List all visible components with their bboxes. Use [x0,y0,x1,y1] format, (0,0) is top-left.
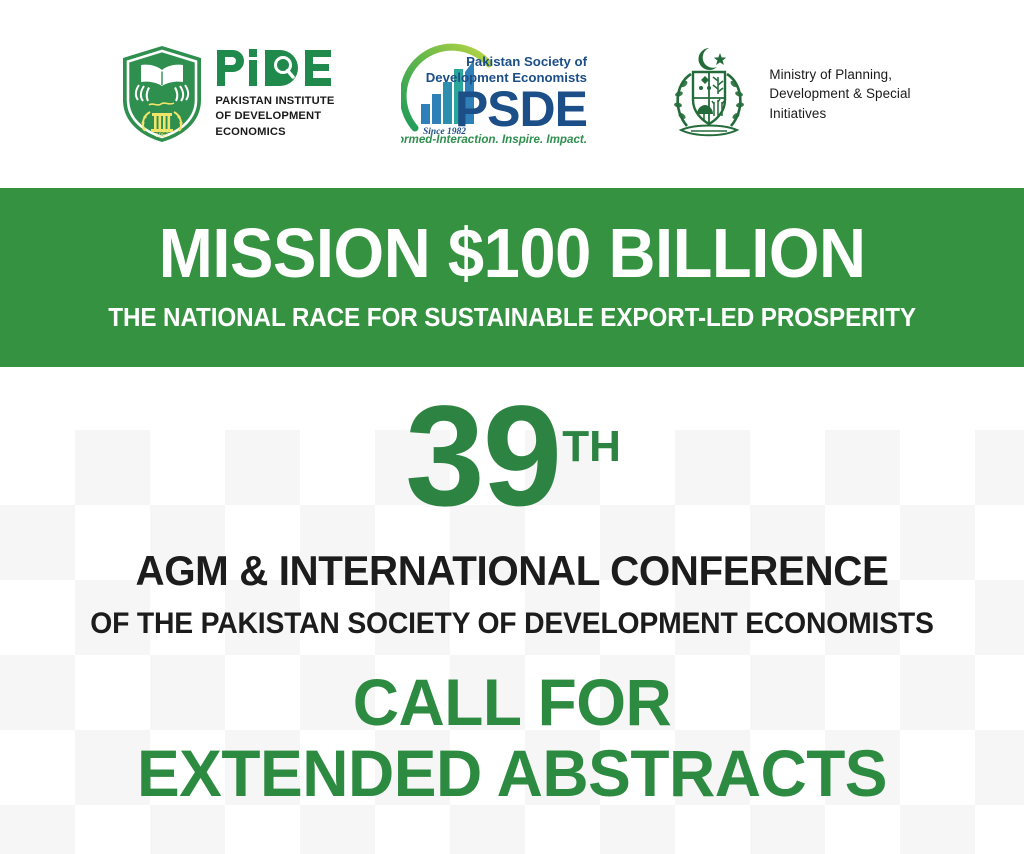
mission-banner: MISSION $100 BILLION THE NATIONAL RACE F… [0,188,1024,367]
call-for-abstracts-line-2: EXTENDED ABSTRACTS [15,740,1008,807]
ministry-logo: Ministry of Planning, Development & Spec… [665,44,910,144]
svg-text:PSDE: PSDE [455,81,587,137]
edition-number: 39 [405,377,560,536]
conference-poster: 1957 [0,0,1024,854]
logo-bar: 1957 [0,0,1024,188]
pide-wordmark-group: PAKISTAN INSTITUTE OF DEVELOPMENT ECONOM… [215,48,335,140]
ministry-name-line-2: Development & Special [769,84,910,103]
pide-wordmark-icon [215,48,335,88]
pide-logo: 1957 [119,44,335,144]
svg-text:Informed-Interaction. Inspire.: Informed-Interaction. Inspire. Impact. [401,133,587,146]
banner-subtitle: THE NATIONAL RACE FOR SUSTAINABLE EXPORT… [108,306,916,332]
pakistan-state-emblem-icon [665,44,753,144]
svg-text:1957: 1957 [156,133,170,139]
ministry-name-line-3: Initiatives [769,104,910,123]
edition-ordinal-suffix: TH [562,422,621,471]
pide-subtitle-line-2: OF DEVELOPMENT [215,109,335,124]
psde-bar-chart-arc-logo-icon: Pakistan Society of Development Economis… [401,42,593,146]
society-subheading: OF THE PAKISTAN SOCIETY OF DEVELOPMENT E… [20,609,1003,639]
pide-subtitle: PAKISTAN INSTITUTE OF DEVELOPMENT ECONOM… [215,94,335,140]
edition-number-group: 39TH [0,385,1024,528]
conference-heading: AGM & INTERNATIONAL CONFERENCE [20,550,1003,592]
ministry-name: Ministry of Planning, Development & Spec… [769,65,910,123]
banner-title: MISSION $100 BILLION [159,218,866,288]
main-content: 39TH AGM & INTERNATIONAL CONFERENCE OF T… [0,385,1024,807]
svg-text:Pakistan Society of: Pakistan Society of [466,54,588,69]
psde-logo: Pakistan Society of Development Economis… [401,42,593,146]
pide-shield-emblem-icon: 1957 [119,44,205,144]
ministry-name-line-1: Ministry of Planning, [769,65,910,84]
pide-subtitle-line-3: ECONOMICS [215,125,335,140]
pide-subtitle-line-1: PAKISTAN INSTITUTE [215,94,335,109]
call-for-abstracts-line-1: CALL FOR [15,669,1008,736]
